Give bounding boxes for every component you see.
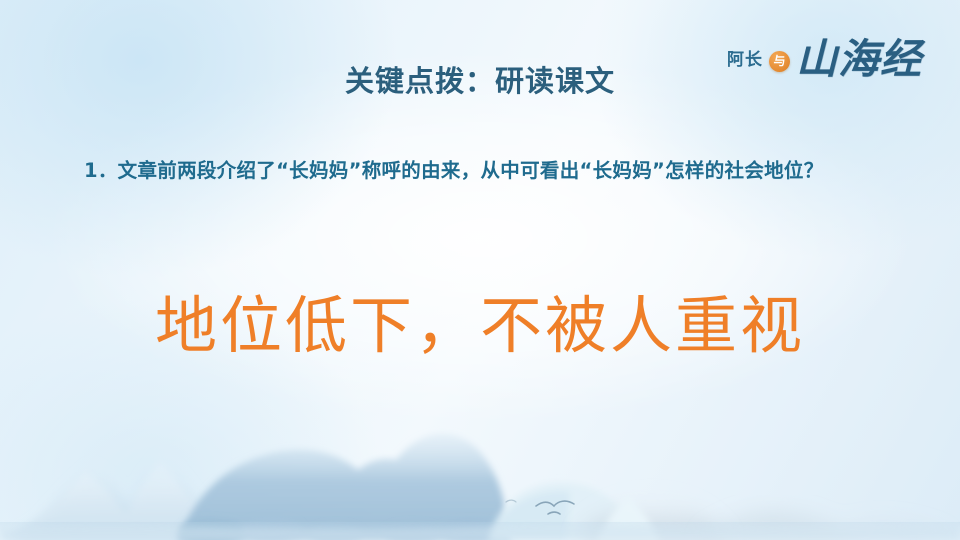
distant-grey-ridge bbox=[578, 498, 728, 540]
question-text: 1．文章前两段介绍了“长妈妈”称呼的由来，从中可看出“长妈妈”怎样的社会地位？ bbox=[84, 152, 874, 190]
right-mist-mountains bbox=[700, 512, 952, 540]
mountain-landscape-decoration bbox=[0, 410, 960, 540]
answer-text: 地位低下，不被人重视 bbox=[0, 292, 960, 360]
page-title: 关键点拨：研读课文 bbox=[0, 58, 960, 100]
left-pale-ridge bbox=[0, 460, 250, 540]
pale-dome-peak bbox=[488, 483, 640, 540]
foreground-rocks bbox=[178, 517, 500, 540]
background-wash-top-left bbox=[0, 0, 400, 280]
central-massif bbox=[176, 434, 512, 540]
slide-canvas: 阿长 与 山海经 关键点拨：研读课文 1．文章前两段介绍了“长妈妈”称呼的由来，… bbox=[0, 0, 960, 540]
water-haze-band bbox=[0, 522, 960, 540]
small-pale-cone bbox=[596, 496, 660, 540]
bird-silhouettes-icon bbox=[506, 500, 574, 514]
far-left-peaks bbox=[10, 454, 232, 540]
